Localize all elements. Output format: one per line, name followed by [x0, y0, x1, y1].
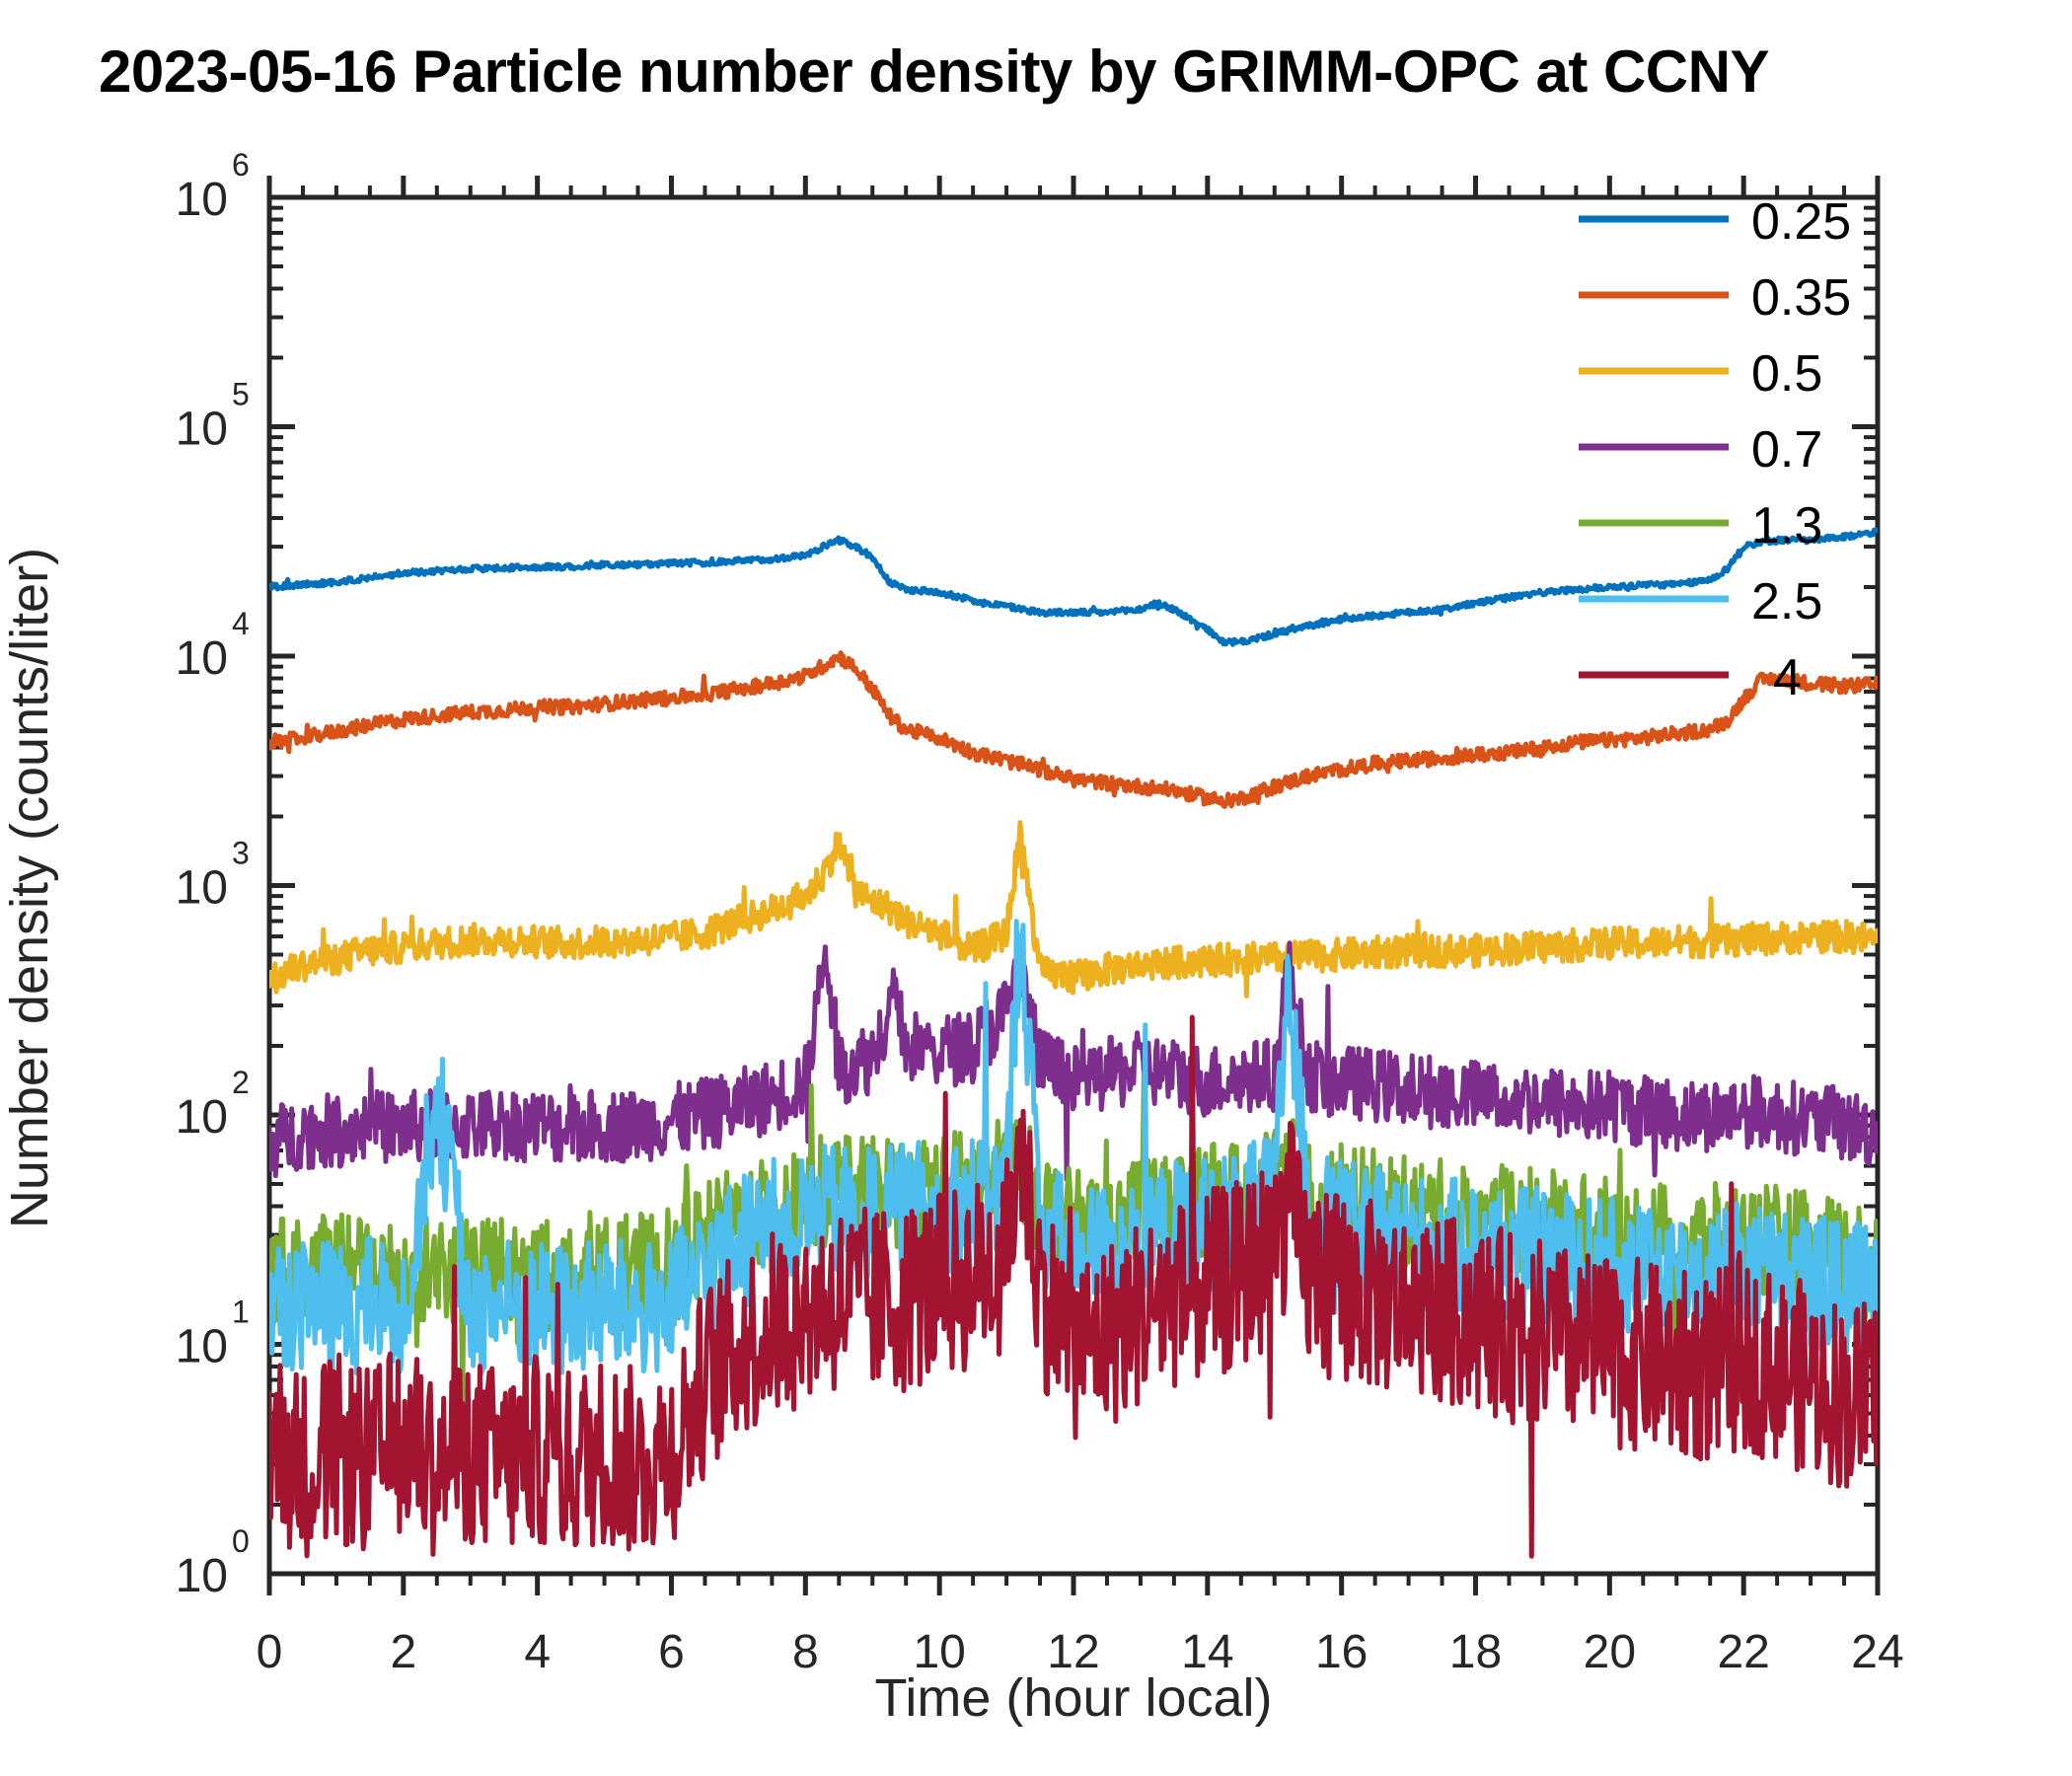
legend-label-0-35: 0.35	[1751, 269, 1851, 327]
y-tick-label: 10	[176, 1321, 228, 1373]
y-tick-label: 10	[176, 1091, 228, 1144]
x-tick-label: 6	[658, 1626, 685, 1678]
legend-label-0-7: 0.7	[1751, 421, 1822, 479]
x-tick-label: 8	[792, 1626, 819, 1678]
legend-label-0-25: 0.25	[1751, 193, 1851, 251]
legend-label-0-5: 0.5	[1751, 345, 1822, 403]
y-tick-exponent: 3	[232, 836, 250, 871]
x-tick-label: 0	[257, 1626, 283, 1678]
legend-label-2-5: 2.5	[1751, 573, 1822, 630]
y-tick-exponent: 1	[232, 1295, 250, 1330]
y-tick-label: 10	[176, 632, 228, 685]
y-tick-label: 10	[176, 862, 228, 915]
y-tick-exponent: 6	[232, 147, 250, 183]
plot-canvas: 0246810121416182022241001011021031041051…	[0, 0, 2072, 1776]
y-tick-exponent: 2	[232, 1065, 250, 1100]
y-tick-exponent: 0	[232, 1523, 250, 1559]
x-tick-label: 10	[913, 1626, 965, 1678]
y-tick-exponent: 4	[232, 606, 250, 641]
y-tick-exponent: 5	[232, 377, 250, 412]
legend-label-4: 4	[1773, 649, 1802, 706]
x-tick-label: 20	[1584, 1626, 1636, 1678]
x-tick-label: 12	[1047, 1626, 1099, 1678]
chart-figure: 2023-05-16 Particle number density by GR…	[0, 0, 2072, 1776]
x-tick-label: 14	[1181, 1626, 1233, 1678]
y-tick-label: 10	[176, 404, 228, 456]
x-tick-label: 24	[1851, 1626, 1903, 1678]
y-tick-label: 10	[176, 1550, 228, 1602]
y-tick-label: 10	[176, 174, 228, 226]
x-tick-label: 2	[390, 1626, 416, 1678]
x-tick-label: 16	[1315, 1626, 1368, 1678]
legend-label-1-3: 1.3	[1751, 497, 1822, 555]
x-tick-label: 4	[524, 1626, 551, 1678]
x-tick-label: 22	[1717, 1626, 1769, 1678]
x-tick-label: 18	[1449, 1626, 1502, 1678]
